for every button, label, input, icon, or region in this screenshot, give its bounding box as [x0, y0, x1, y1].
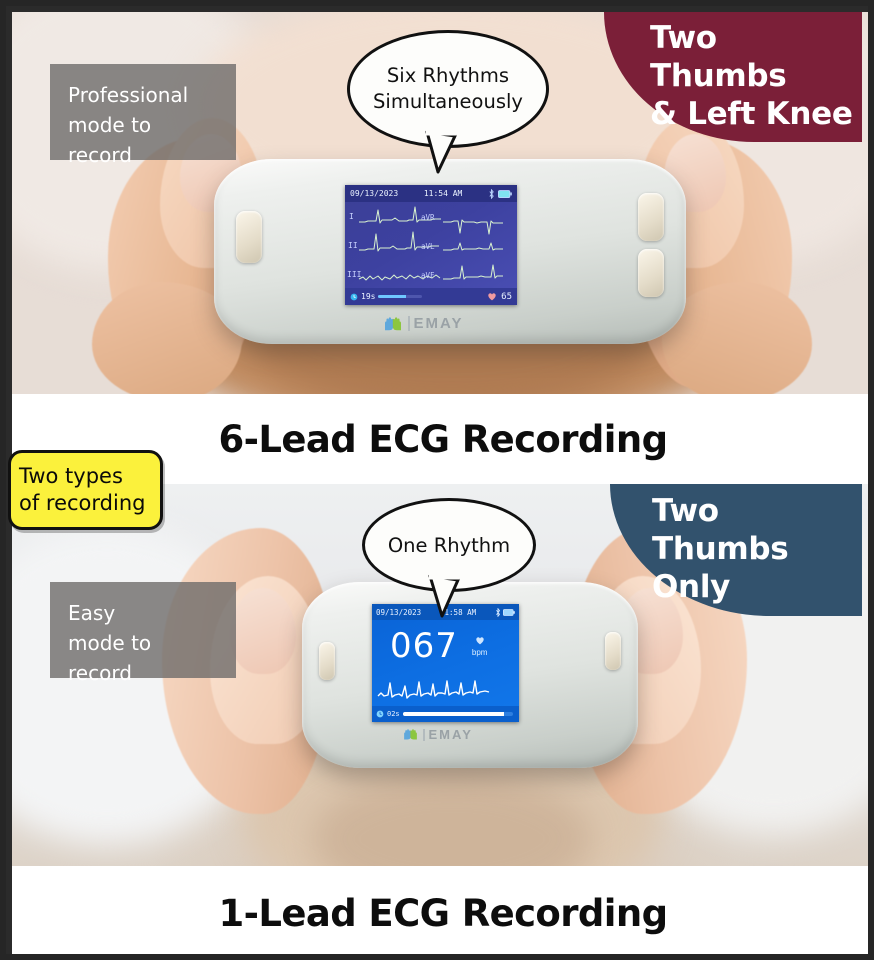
product-infographic: 09/13/2023 11:54 AM	[0, 0, 874, 960]
lead-label-I: I	[349, 212, 354, 221]
device-button-right-upper[interactable]	[638, 193, 664, 241]
caption-six-lead-text: 6-Lead ECG Recording	[219, 418, 668, 461]
device-screen-six-lead[interactable]: 09/13/2023 11:54 AM	[345, 185, 517, 305]
device-brand-top: EMAY	[414, 315, 464, 332]
badge-blue-line2: Only	[652, 569, 862, 607]
badge-maroon-line2: & Left Knee	[650, 96, 862, 134]
label-professional-line2: mode to record	[68, 110, 218, 170]
device-logo-bottom: EMAY	[402, 727, 473, 742]
ecg-trace-one-lead	[372, 670, 519, 704]
caption-one-lead: 1-Lead ECG Recording	[12, 866, 874, 960]
clock-icon	[350, 293, 358, 301]
screen-date: 09/13/2023	[350, 189, 398, 198]
heart-icon	[487, 292, 497, 301]
speech-bubble-one-rhythm: One Rhythm	[362, 498, 530, 608]
two-hands-logo-icon	[382, 316, 404, 332]
recording-duration: 19s	[361, 292, 375, 301]
label-easy-mode: Easy mode to record	[50, 582, 236, 678]
bluetooth-icon	[488, 189, 495, 199]
label-professional-line1: Professional	[68, 80, 218, 110]
device-button-right-lower[interactable]	[638, 249, 664, 297]
sticker-line2: of recording	[19, 490, 160, 517]
caption-one-lead-text: 1-Lead ECG Recording	[219, 892, 668, 935]
bpm-readout-group: 067 bpm	[372, 620, 519, 672]
thumbnail-left-bottom	[230, 588, 296, 674]
lead-label-aVF: aVF	[421, 271, 435, 280]
battery-icon	[498, 190, 512, 198]
sticker-two-types-of-recording: Two types of recording	[8, 450, 163, 530]
screen-time: 11:54 AM	[424, 189, 463, 198]
lead-label-II: II	[348, 241, 358, 250]
device-button-left[interactable]	[236, 211, 262, 263]
lead-label-III: III	[347, 270, 361, 279]
lead-label-aVL: aVL	[421, 242, 435, 251]
device-button-right-bottom[interactable]	[605, 632, 621, 670]
clock-icon	[376, 710, 384, 718]
bpm-value: 067	[390, 629, 458, 663]
label-easy-line2: mode to record	[68, 628, 218, 688]
bluetooth-icon	[495, 608, 501, 617]
two-hands-logo-icon	[402, 728, 419, 741]
screen-status-bar-bottom: 19s 65	[345, 288, 517, 305]
ecg-device-six-lead[interactable]: 09/13/2023 11:54 AM	[214, 159, 686, 344]
device-screen-one-lead[interactable]: 09/13/2023 11:58 AM 067	[372, 604, 519, 722]
recording-progress-bar-one	[403, 712, 513, 716]
bubble-tail-one	[428, 574, 462, 618]
recording-progress-bar	[378, 295, 422, 298]
device-logo-top: EMAY	[382, 315, 463, 332]
screen-date-one: 09/13/2023	[376, 608, 421, 617]
bubble-six-line2: Simultaneously	[373, 89, 523, 115]
lead-label-aVR: aVR	[421, 213, 435, 222]
label-professional-mode: Professional mode to record	[50, 64, 236, 160]
heart-rate-value: 65	[501, 292, 512, 302]
badge-maroon-line1: Two Thumbs	[650, 20, 862, 96]
screen-status-bar-bottom-one: 02s	[372, 706, 519, 722]
bubble-tail-six	[425, 130, 459, 174]
bpm-unit: bpm	[472, 648, 488, 657]
battery-icon	[503, 609, 515, 616]
speech-bubble-six-rhythms: Six Rhythms Simultaneously	[347, 30, 543, 154]
sticker-line1: Two types	[19, 463, 160, 490]
badge-blue-line1: Two Thumbs	[652, 493, 862, 569]
ecg-device-one-lead[interactable]: 09/13/2023 11:58 AM 067	[302, 582, 638, 768]
heart-icon	[475, 636, 485, 645]
device-button-left-bottom[interactable]	[319, 642, 335, 680]
recording-duration-one: 02s	[387, 710, 400, 718]
bubble-one-line1: One Rhythm	[388, 534, 510, 557]
label-easy-line1: Easy	[68, 598, 218, 628]
device-brand-bottom: EMAY	[429, 727, 473, 742]
bubble-six-line1: Six Rhythms	[387, 63, 509, 89]
screen-status-bar-top: 09/13/2023 11:54 AM	[345, 185, 517, 202]
